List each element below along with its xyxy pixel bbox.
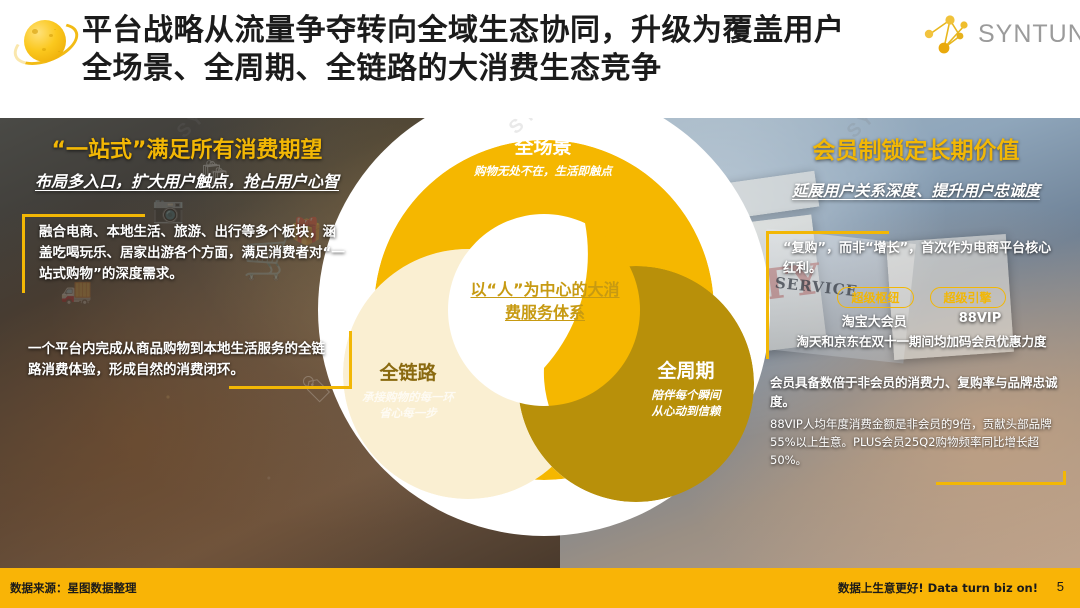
pill-label-taobao: 淘宝大会员	[842, 311, 907, 330]
slide-footer: 数据来源：星图数据整理 数据上生意更好! Data turn biz on! 5	[0, 568, 1080, 608]
planet-body	[24, 20, 66, 62]
pill-super-hub[interactable]: 超级枢纽	[837, 287, 913, 308]
venn-label-cycle-title: 全周期	[606, 356, 766, 383]
slide: 平台战略从流量争夺转向全域生态协同，升级为覆盖用户全场景、全周期、全链路的大消费…	[0, 0, 1080, 608]
slide-header: 平台战略从流量争夺转向全域生态协同，升级为覆盖用户全场景、全周期、全链路的大消费…	[0, 0, 1080, 118]
left-title: “一站式”满足所有消费期望	[22, 136, 352, 166]
page-title: 平台战略从流量争夺转向全域生态协同，升级为覆盖用户全场景、全周期、全链路的大消费…	[82, 12, 872, 88]
left-callout-2: 一个平台内完成从商品购物到本地生活服务的全链路消费体验，形成自然的消费闭环。	[22, 331, 352, 389]
venn-center-label: 以“人”为中心的大消费服务体系	[470, 278, 620, 324]
right-paragraph-3: 88VIP人均年度消费金额是非会员的9倍，贡献头部品牌55%以上生意。PLUS会…	[770, 415, 1066, 469]
pill-super-engine[interactable]: 超级引擎	[930, 287, 1006, 308]
venn-label-chain-desc: 承接购物的每一环 省心每一步	[338, 389, 478, 421]
venn-label-scene: 全场景 购物无处不在，生活即触点	[398, 132, 688, 179]
footer-source: 数据来源：星图数据整理	[10, 580, 137, 596]
pill-label-88vip: 88VIP	[959, 311, 1002, 330]
planet-icon	[12, 14, 74, 70]
right-callout-1: “复购”，而非“增长”，首次作为电商平台核心红利。 超级枢纽 超级引擎 淘宝大会…	[766, 231, 1066, 359]
venn-label-chain: 全链路 承接购物的每一环 省心每一步	[338, 358, 478, 421]
venn-label-cycle: 全周期 陪伴每个瞬间 从心动到信赖	[606, 356, 766, 419]
venn-label-cycle-desc: 陪伴每个瞬间 从心动到信赖	[606, 387, 766, 419]
footer-page-number: 5	[1057, 579, 1064, 594]
slide-body: 🛒 📷 🎁 🚚 🚲 🛍 🏷 LOYALTY SERVICE	[0, 118, 1080, 568]
left-subtitle: 布局多入口，扩大用户触点，抢占用户心智	[22, 170, 352, 194]
venn-label-chain-title: 全链路	[338, 358, 478, 385]
left-paragraph-1: 融合电商、本地生活、旅游、出行等多个板块，涵盖吃喝玩乐、居家出游各个方面，满足消…	[39, 222, 346, 285]
right-paragraph-1: “复购”，而非“增长”，首次作为电商平台核心红利。	[783, 239, 1060, 279]
brand-logo: SYNTUN	[920, 10, 1070, 62]
membership-pill-row: 超级枢纽 超级引擎	[783, 287, 1060, 308]
venn-label-scene-title: 全场景	[398, 132, 688, 159]
brand-name: SYNTUN	[978, 20, 1080, 49]
footer-slogan: 数据上生意更好! Data turn biz on!	[838, 580, 1038, 596]
left-content-column: “一站式”满足所有消费期望 布局多入口，扩大用户触点，抢占用户心智 融合电商、本…	[22, 136, 352, 389]
right-title: 会员制锁定长期价值	[766, 136, 1066, 166]
right-subtitle: 延展用户关系深度、提升用户忠诚度	[766, 180, 1066, 203]
right-content-column: 会员制锁定长期价值 延展用户关系深度、提升用户忠诚度 “复购”，而非“增长”，首…	[766, 136, 1066, 485]
right-paragraph-2: 会员具备数倍于非会员的消费力、复购率与品牌忠诚度。	[770, 373, 1066, 411]
venn-label-scene-desc: 购物无处不在，生活即触点	[398, 163, 688, 179]
venn-pinwheel-diagram	[318, 118, 770, 536]
membership-pill-labels: 淘宝大会员 88VIP	[783, 311, 1060, 330]
left-callout-1: 融合电商、本地生活、旅游、出行等多个板块，涵盖吃喝玩乐、居家出游各个方面，满足消…	[22, 214, 352, 293]
right-bracket-horizontal	[936, 482, 1066, 485]
syntun-network-icon	[920, 12, 976, 58]
pill-caption: 淘天和京东在双十一期间均加码会员优惠力度	[783, 332, 1060, 351]
right-callout-2: 会员具备数倍于非会员的消费力、复购率与品牌忠诚度。 88VIP人均年度消费金额是…	[766, 373, 1066, 485]
left-paragraph-2: 一个平台内完成从商品购物到本地生活服务的全链路消费体验，形成自然的消费闭环。	[28, 339, 335, 381]
